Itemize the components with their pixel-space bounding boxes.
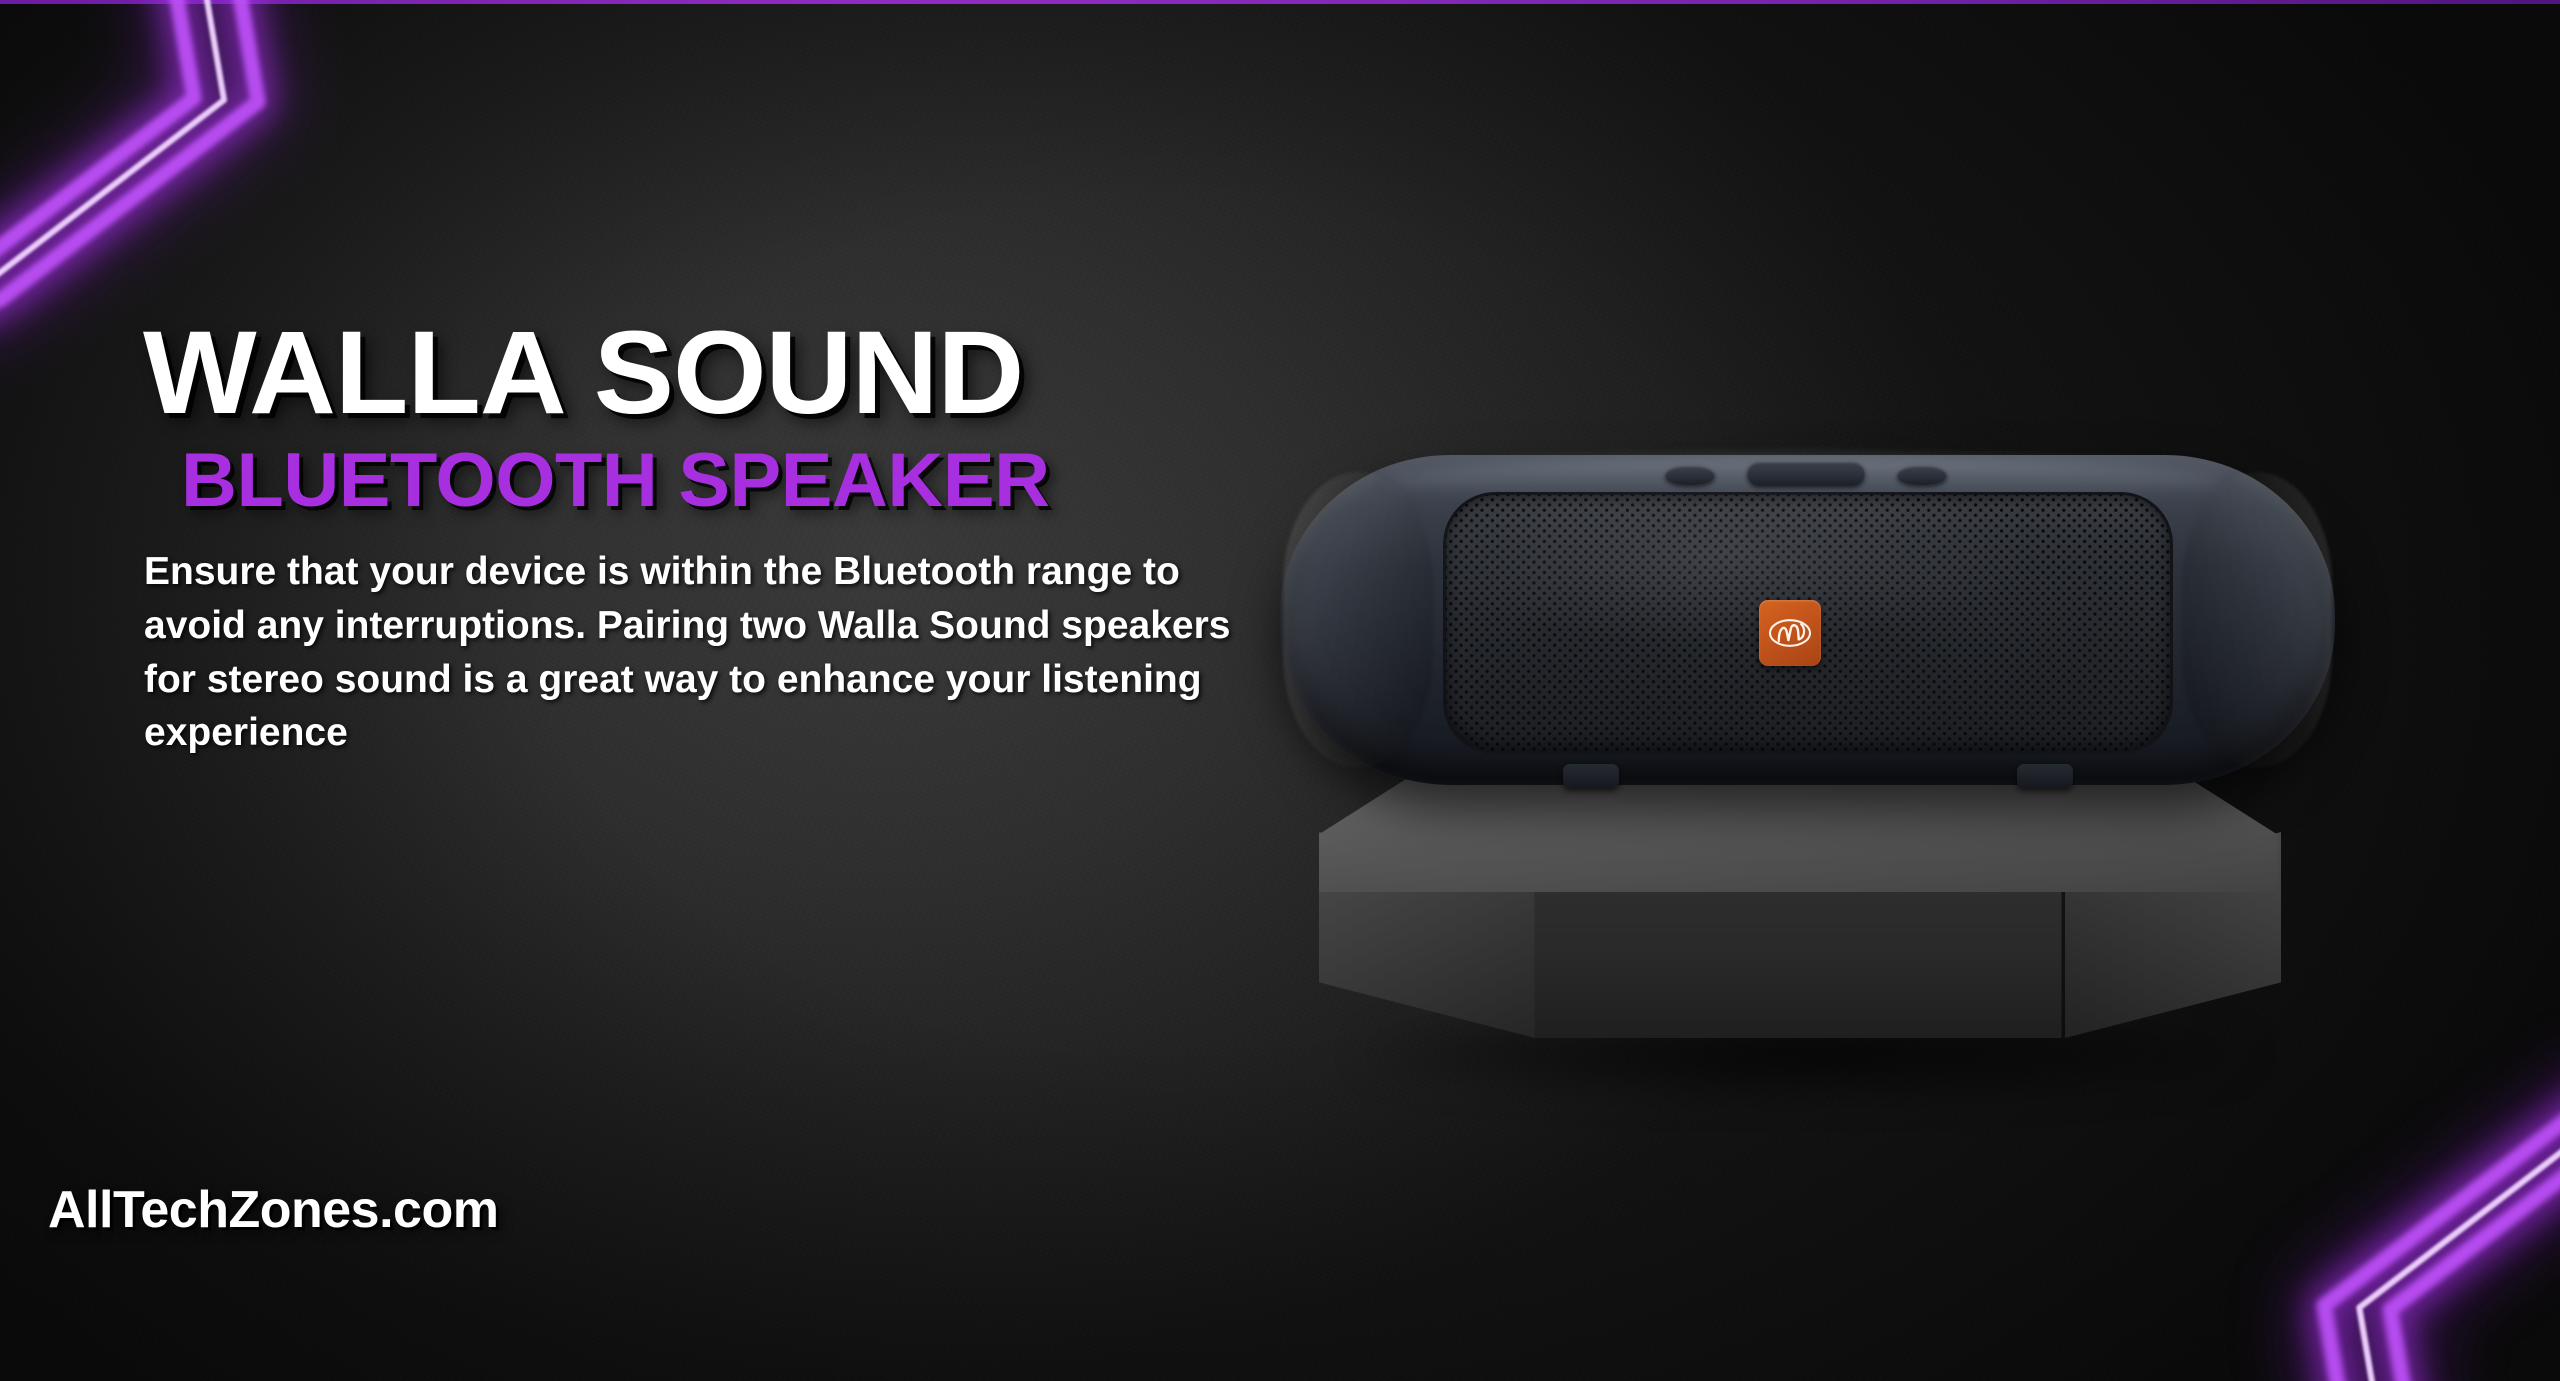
speaker-foot-left	[1563, 764, 1619, 788]
speaker-left-end-cap	[1283, 472, 1433, 768]
speaker-foot-right	[2017, 764, 2073, 788]
product-scene	[1275, 430, 2340, 1170]
copy-block: WALLA SOUND BLUETOOTH SPEAKER Ensure tha…	[143, 318, 1303, 760]
brand-badge	[1759, 600, 1821, 666]
body-copy: Ensure that your device is within the Bl…	[144, 545, 1254, 760]
product-pedestal	[1295, 740, 2305, 1140]
subheadline: BLUETOOTH SPEAKER	[181, 443, 1325, 519]
body-copy-text: Ensure that your device is within the Bl…	[144, 545, 1254, 760]
speaker-right-end-cap	[2182, 472, 2332, 768]
bluetooth-button-icon	[1897, 466, 1947, 485]
bluetooth-speaker-product	[1275, 430, 2340, 800]
site-watermark: AllTechZones.com	[48, 1180, 498, 1240]
play-pause-button-icon	[1747, 462, 1865, 486]
headline: WALLA SOUND	[143, 318, 1326, 429]
promo-banner: WALLA SOUND BLUETOOTH SPEAKER Ensure tha…	[0, 0, 2560, 1381]
power-button-icon	[1665, 466, 1715, 485]
top-purple-rule	[0, 0, 2560, 4]
walla-monogram-logo-icon	[1766, 613, 1814, 653]
